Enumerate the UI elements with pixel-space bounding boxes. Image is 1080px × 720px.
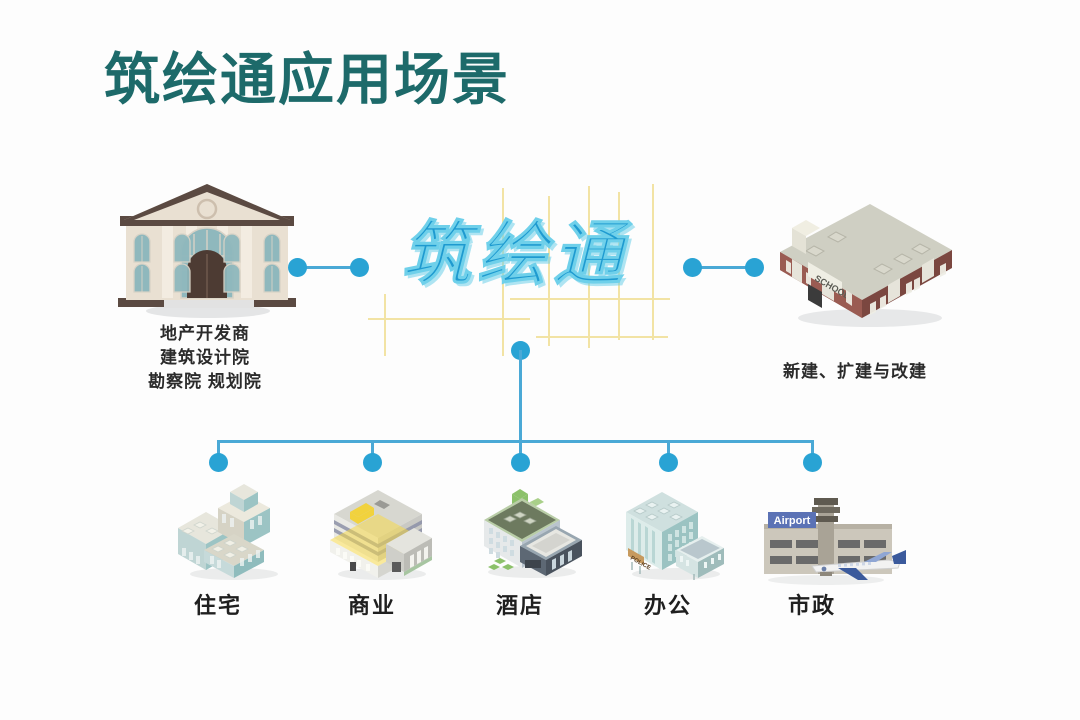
- category-label-office: 办公: [608, 588, 728, 620]
- tree-drop-line-3: [519, 440, 522, 460]
- airport-sign-text: Airport: [774, 515, 811, 527]
- category-icon-residential: [172, 478, 284, 582]
- left-caption-line-1: 地产开发商: [80, 322, 330, 346]
- tree-leaf-dot-commercial: [363, 453, 382, 472]
- category-icon-municipal: Airport: [746, 494, 906, 586]
- category-label-commercial: 商业: [312, 588, 432, 620]
- tree-leaf-dot-hotel: [511, 453, 530, 472]
- tree-trunk-line: [519, 350, 522, 442]
- right-caption: 新建、扩建与改建: [730, 360, 980, 384]
- tree-horizontal-bar: [218, 440, 814, 443]
- tree-root-dot: [511, 341, 530, 360]
- product-logo: 筑绘通: [350, 190, 680, 340]
- connector-dot-left-a: [288, 258, 307, 277]
- left-caption-line-2: 建筑设计院: [80, 346, 330, 370]
- product-logo-text: 筑绘通: [350, 204, 680, 304]
- grid-line-h3: [536, 336, 668, 338]
- tree-drop-line-1: [217, 440, 220, 460]
- left-caption-line-3: 勘察院 规划院: [80, 370, 330, 394]
- category-label-hotel: 酒店: [460, 588, 580, 620]
- tree-leaf-dot-office: [659, 453, 678, 472]
- left-building-illustration: [104, 178, 304, 318]
- category-label-municipal: 市政: [752, 588, 872, 620]
- tree-drop-line-4: [667, 440, 670, 460]
- diagram-canvas: 筑绘通应用场景: [0, 0, 1080, 720]
- tree-leaf-dot-municipal: [803, 453, 822, 472]
- tree-drop-line-5: [811, 440, 814, 460]
- category-icon-commercial: [322, 478, 434, 582]
- connector-dot-right-a: [683, 258, 702, 277]
- category-label-residential: 住宅: [158, 588, 278, 620]
- left-caption: 地产开发商 建筑设计院 勘察院 规划院: [80, 322, 330, 394]
- tree-leaf-dot-residential: [209, 453, 228, 472]
- right-building-illustration: SCHOOL: [762, 168, 962, 328]
- category-icon-office: POLICE: [618, 478, 730, 582]
- category-icon-hotel: [472, 472, 584, 582]
- page-title: 筑绘通应用场景: [104, 52, 510, 108]
- grid-line-h1: [368, 318, 530, 320]
- logo-to-right-building-connector: [683, 258, 767, 278]
- tree-drop-line-2: [371, 440, 374, 460]
